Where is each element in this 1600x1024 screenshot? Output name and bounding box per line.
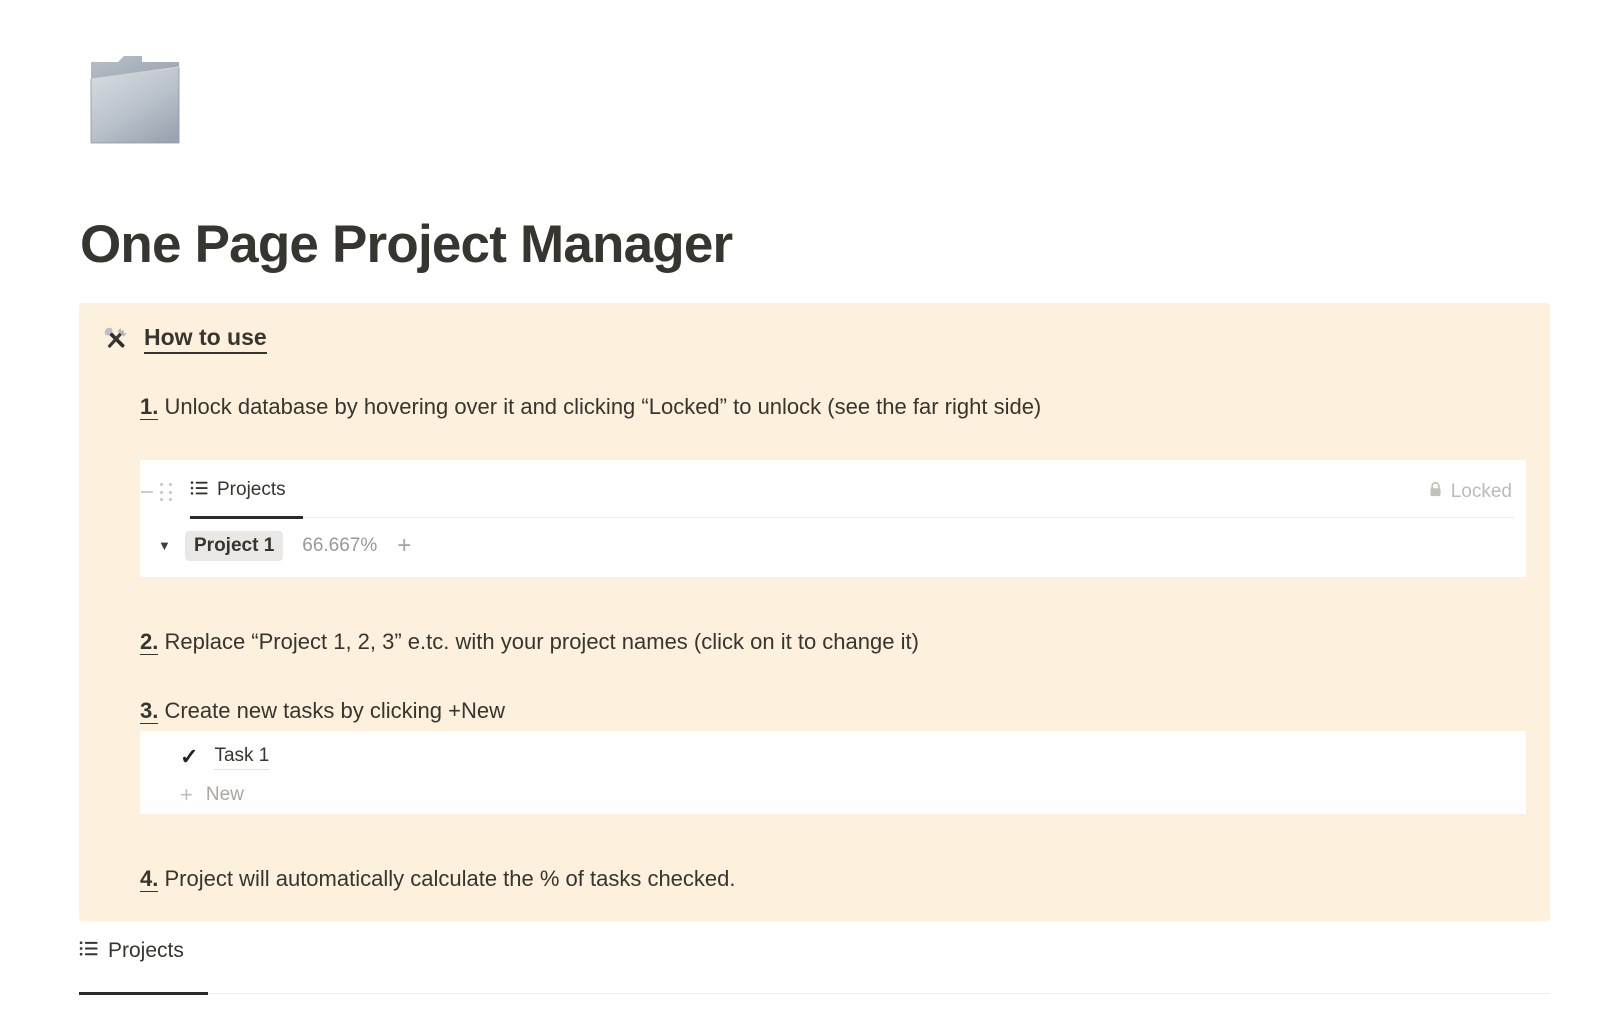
lock-toggle[interactable]: Locked <box>1428 480 1512 504</box>
step-3: 3. Create new tasks by clicking +New <box>140 695 505 726</box>
callout-header: How to use <box>101 323 267 354</box>
active-tab-underline <box>190 516 303 519</box>
add-row-icon[interactable]: + <box>397 536 411 556</box>
bottom-tab-projects[interactable]: Projects <box>79 938 184 978</box>
drag-handle-icon[interactable] <box>160 483 174 503</box>
database-group-row[interactable]: ▼ Project 1 66.667% + <box>158 531 411 561</box>
step-3-text: Create new tasks by clicking +New <box>158 698 505 723</box>
bottom-database-tabs: Projects <box>79 938 1550 978</box>
step-4-number: 4. <box>140 866 158 892</box>
checkmark-icon[interactable]: ✓ <box>180 744 198 770</box>
hammer-and-wrench-icon <box>101 324 131 354</box>
step-1-number: 1. <box>140 394 158 420</box>
lock-icon <box>1428 481 1443 503</box>
page-title: One Page Project Manager <box>80 212 732 278</box>
step-1: 1. Unlock database by hovering over it a… <box>140 391 1041 422</box>
new-task-label: New <box>206 783 244 807</box>
task-row[interactable]: ✓ Task 1 <box>180 744 269 770</box>
step-1-text: Unlock database by hovering over it and … <box>158 394 1041 419</box>
database-tab-projects[interactable]: Projects <box>190 478 286 514</box>
database-tab-label: Projects <box>217 478 286 502</box>
database-toolbar: Projects Locked <box>140 460 1526 524</box>
tabs-divider <box>79 993 1550 994</box>
list-view-icon <box>79 940 98 962</box>
step-4: 4. Project will automatically calculate … <box>140 863 736 894</box>
task-list-block[interactable]: ✓ Task 1 + New <box>140 731 1526 814</box>
new-task-button[interactable]: + New <box>180 783 244 807</box>
callout-title: How to use <box>144 323 267 354</box>
project-name-pill[interactable]: Project 1 <box>185 531 283 561</box>
lock-label: Locked <box>1451 480 1512 504</box>
bottom-active-tab-underline <box>79 992 208 995</box>
task-label[interactable]: Task 1 <box>214 744 269 770</box>
step-4-text: Project will automatically calculate the… <box>158 866 735 891</box>
how-to-use-callout: How to use 1. Unlock database by hoverin… <box>79 303 1550 921</box>
projects-database-block[interactable]: Projects Locked ▼ Project 1 <box>140 460 1526 577</box>
list-view-icon <box>190 480 208 501</box>
step-2: 2. Replace “Project 1, 2, 3” e.tc. with … <box>140 626 919 657</box>
group-toggle-icon[interactable]: ▼ <box>158 535 180 557</box>
step-2-number: 2. <box>140 629 158 655</box>
step-2-text: Replace “Project 1, 2, 3” e.tc. with you… <box>158 629 919 654</box>
step-3-number: 3. <box>140 698 158 724</box>
bottom-tab-label: Projects <box>108 938 184 964</box>
folder-icon[interactable] <box>86 48 190 152</box>
collapse-dash-icon[interactable] <box>141 491 153 493</box>
plus-icon: + <box>180 785 193 805</box>
toolbar-divider <box>190 517 1514 518</box>
notion-page: One Page Project Manager How to use <box>0 0 1600 1024</box>
project-progress-percent: 66.667% <box>302 534 377 558</box>
